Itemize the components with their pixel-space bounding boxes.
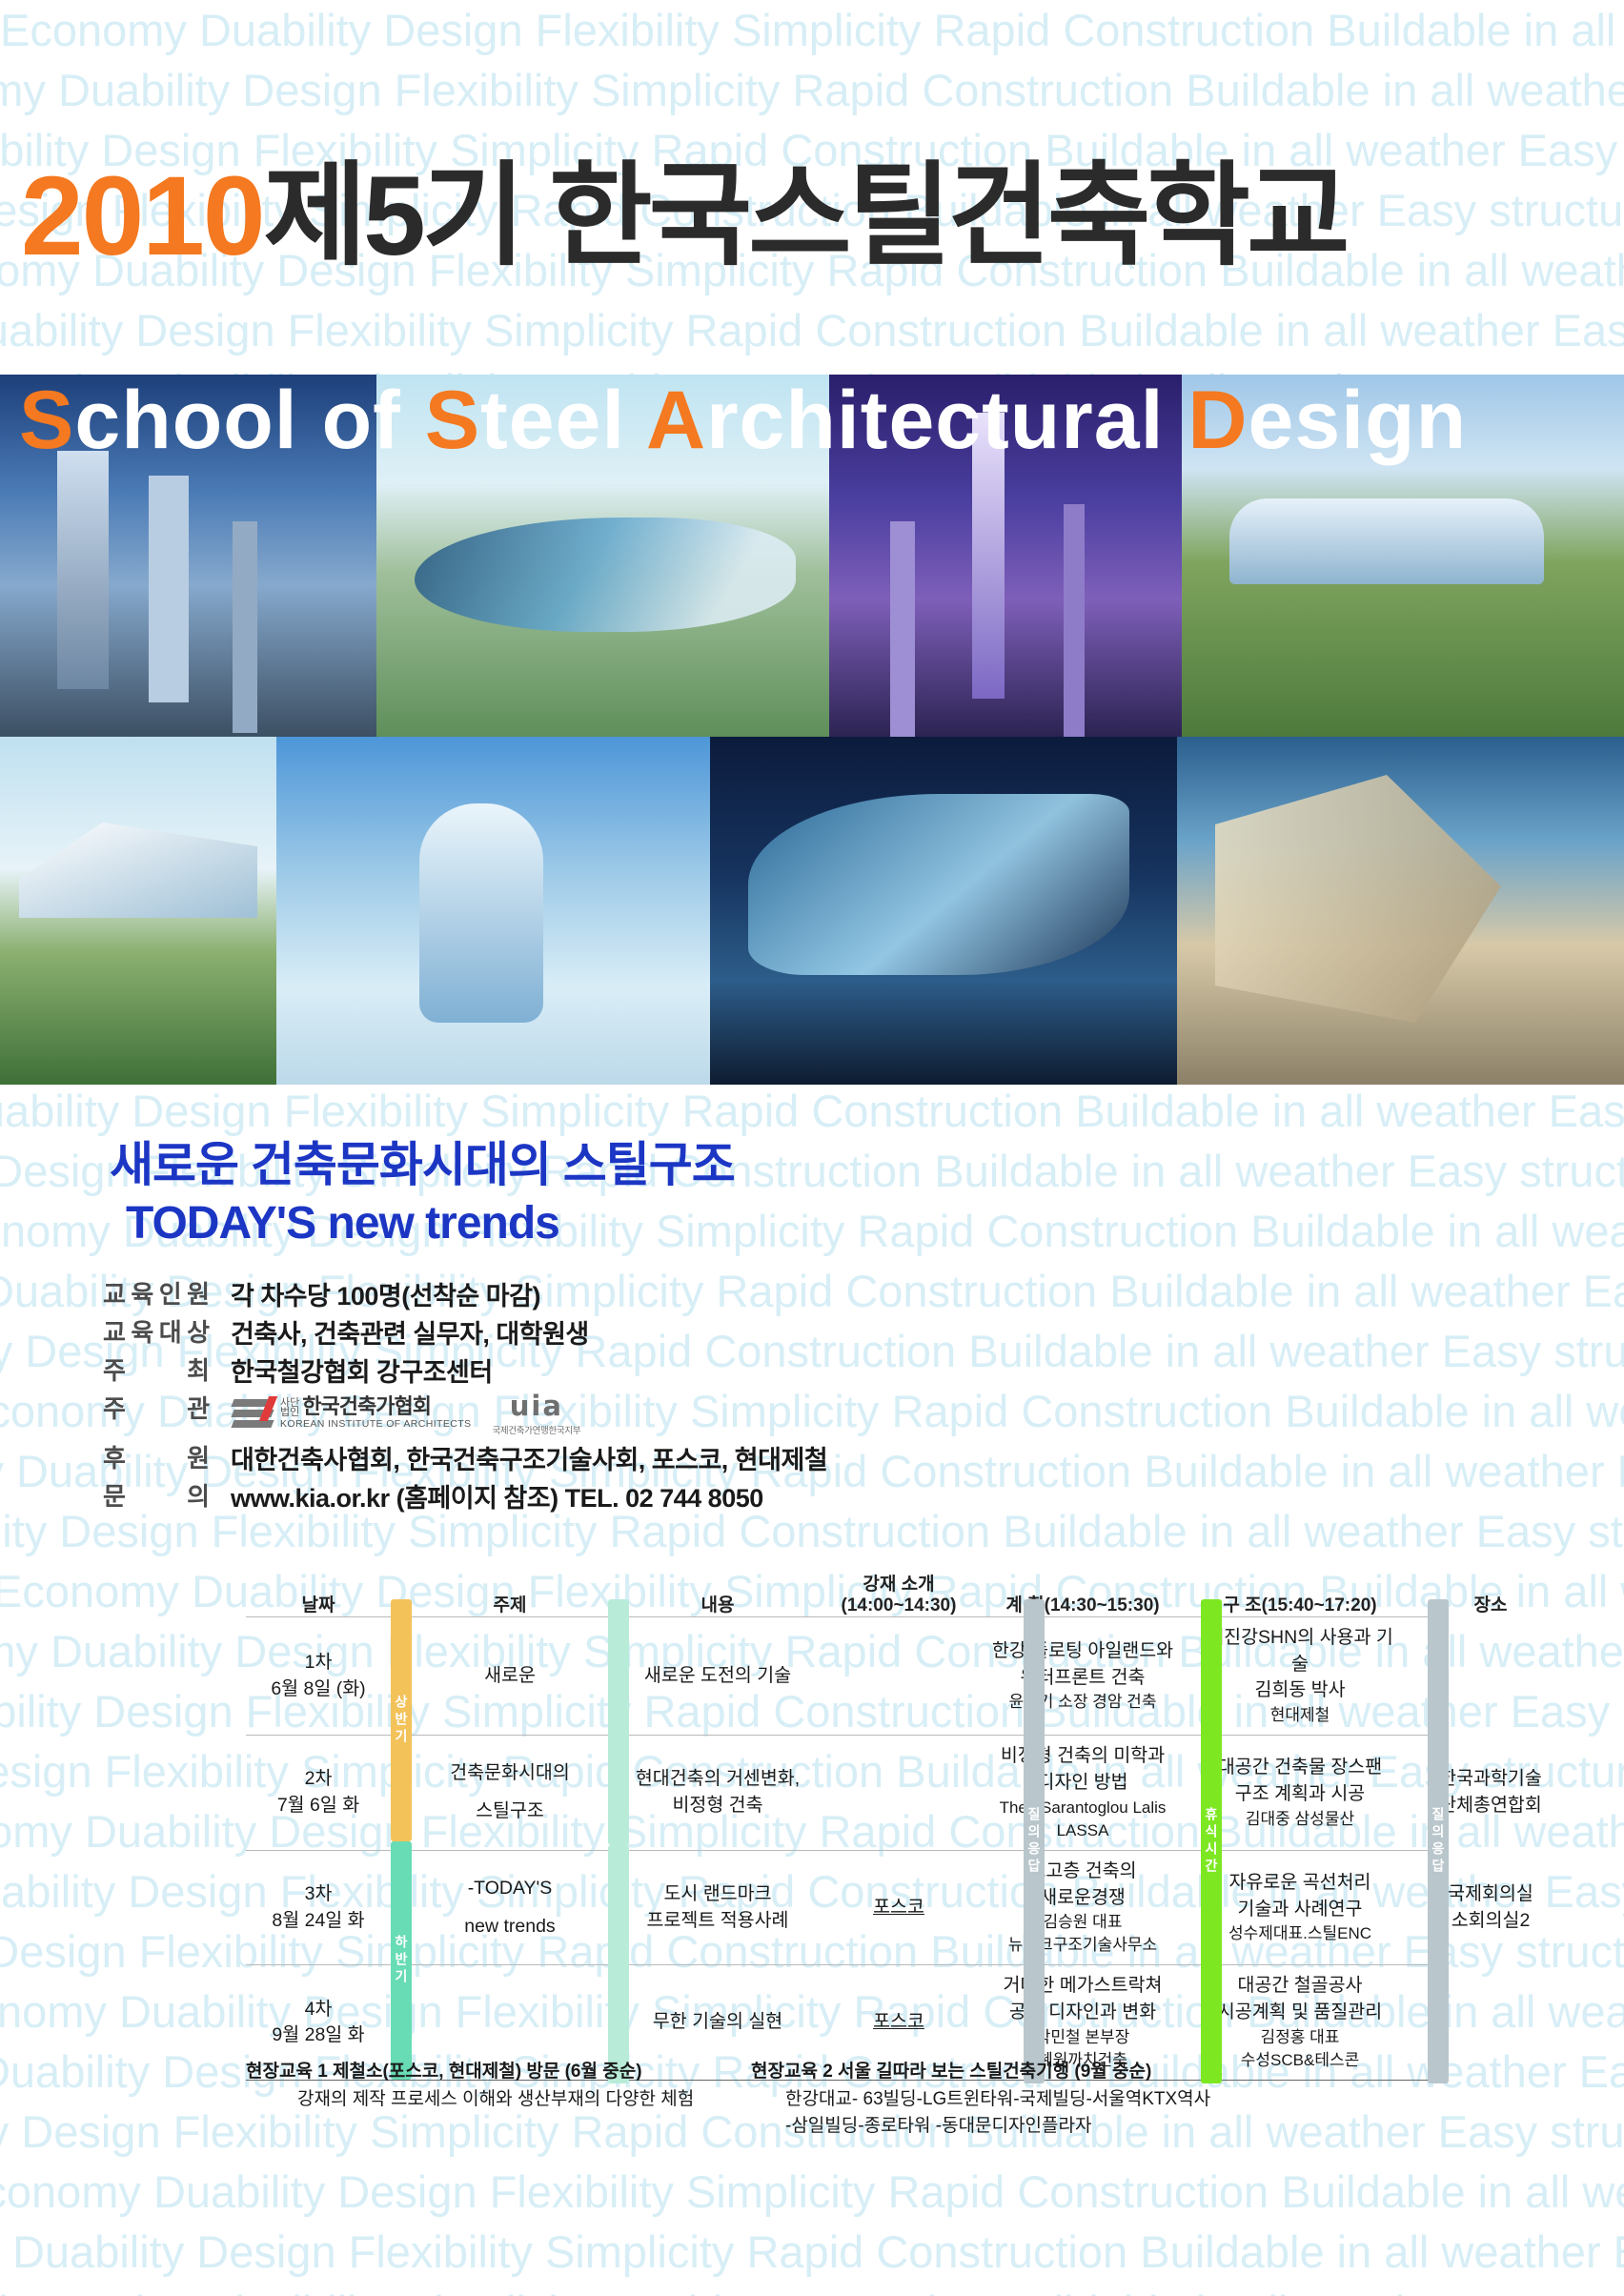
structure-line: 김정홍 대표 xyxy=(1261,2026,1340,2049)
cell-date: 3차8월 24일 화 xyxy=(246,1851,391,1965)
schedule-body: 상반기 하반기 질의응답 휴식시간 질의응답 1차6월 8일 (화)새로운새로운… xyxy=(246,1616,1435,2081)
theme-line: 스틸구조 xyxy=(476,1798,544,1825)
steel-line: 포스코 xyxy=(873,2009,924,2036)
session-date: 9월 28일 화 xyxy=(272,2022,364,2049)
content-line: 새로운 도전의 기술 xyxy=(644,1663,791,1690)
info-value-host: 한국철강협회 강구조센터 xyxy=(210,1351,493,1389)
photo-montage xyxy=(0,375,1624,1085)
schedule-header-row: 날짜 주제 내용 강재 소개(14:00~14:30) 계 획(14:30~15… xyxy=(246,1571,1435,1616)
structure-line: 내진강SHN의 사용과 기술 xyxy=(1199,1625,1401,1677)
info-label-char: 교 xyxy=(103,1275,126,1311)
footnotes: 현장교육 1 제철소(포스코, 현대제철) 방문 (6월 중순) 강재의 제작 … xyxy=(246,2059,1485,2141)
uia-logo: uia 국제건축가연맹한국지부 xyxy=(492,1390,580,1436)
info-value-audience: 건축사, 건축관련 실무자, 대학원생 xyxy=(210,1313,589,1351)
info-label-organizer: 주관 xyxy=(103,1390,210,1425)
plan-line: 박민철 본부장 xyxy=(1036,2026,1130,2049)
photo-atrium-interior xyxy=(1177,737,1624,1085)
info-label-char: 인 xyxy=(159,1275,182,1311)
session-number: 2차 xyxy=(305,1766,333,1793)
content-line: 현대건축의 거센변화, xyxy=(636,1766,800,1793)
cell-steel-intro xyxy=(827,1617,970,1735)
info-label-char: 주 xyxy=(103,1390,126,1425)
content-line: 비정형 건축 xyxy=(672,1793,762,1819)
info-label-host: 주최 xyxy=(103,1351,210,1387)
info-value-contact: www.kia.or.kr (홈페이지 참조) TEL. 02 744 8050 xyxy=(210,1477,763,1514)
steel-line: 포스코 xyxy=(873,1895,924,1921)
info-row-audience: 교육대상 건축사, 건축관련 실무자, 대학원생 xyxy=(103,1313,827,1351)
plan-line: 초고층 건축의 xyxy=(1028,1859,1136,1885)
info-label-char: 육 xyxy=(131,1275,153,1311)
cell-plan: 비정형 건축의 미학과디자인 방법Theo Sarantoglou Lalis … xyxy=(970,1736,1195,1850)
structure-line: 구조 계획과 시공 xyxy=(1235,1781,1365,1808)
footnote-2-line1: 한강대교- 63빌딩-LG트윈타워-국제빌딩-서울역KTX역사 xyxy=(751,2086,1485,2114)
cell-content: 현대건축의 거센변화,비정형 건축 xyxy=(608,1736,827,1850)
header-structure: 구 조(15:40~17:20) xyxy=(1195,1591,1405,1616)
structure-line: 대공간 건축물 장스팬 xyxy=(1218,1755,1382,1781)
place-line: 소회의실2 xyxy=(1451,1908,1531,1935)
info-label-char: 원 xyxy=(187,1275,210,1311)
content-line: 프로젝트 적용사례 xyxy=(647,1908,789,1935)
footnote-2-title: 현장교육 2 서울 길따라 보는 스틸건축기행 (9월 중순) xyxy=(751,2059,1485,2086)
info-row-sponsor: 후원 대한건축사협회, 한국건축구조기술사회, 포스코, 현대제철 xyxy=(103,1439,827,1477)
title-en-word: teel xyxy=(480,375,625,466)
cell-theme: 건축문화시대의스틸구조 xyxy=(412,1736,608,1850)
cell-plan: 초고층 건축의새로운경쟁김승원 대표뉴테크구조기술사무소 xyxy=(970,1851,1195,1965)
plan-line: 새로운경쟁 xyxy=(1040,1885,1126,1912)
kia-logo: 사단 법인 한국건축가협회 KOREAN INSTITUTE OF ARCHIT… xyxy=(231,1396,471,1431)
background-text-line: Economy Duability Design Flexibility Sim… xyxy=(0,2162,1624,2222)
cell-date: 1차6월 8일 (화) xyxy=(246,1617,391,1735)
structure-line: 자유로운 곡선처리 xyxy=(1229,1870,1371,1897)
info-label-char: 주 xyxy=(103,1351,126,1387)
place-line: 단체총연합회 xyxy=(1439,1793,1542,1819)
kia-name-english: KOREAN INSTITUTE OF ARCHITECTS xyxy=(280,1419,471,1430)
session-date: 8월 24일 화 xyxy=(272,1908,364,1935)
structure-line: 성수제대표.스틸ENC xyxy=(1228,1922,1371,1945)
structure-line: 김희동 박사 xyxy=(1254,1677,1345,1704)
cell-content: 도시 랜드마크프로젝트 적용사례 xyxy=(608,1851,827,1965)
footnote-field-training-2: 현장교육 2 서울 길따라 보는 스틸건축기행 (9월 중순) 한강대교- 63… xyxy=(751,2059,1485,2141)
info-value-capacity: 각 차수당 100명(선착순 마감) xyxy=(210,1275,540,1312)
uia-wordmark: uia xyxy=(492,1390,580,1422)
info-label-char: 문 xyxy=(103,1477,126,1513)
structure-line: 시공계획 및 품질관리 xyxy=(1218,2000,1382,2026)
structure-line: 현대제철 xyxy=(1270,1704,1330,1727)
bar-qa-1: 질의응답 xyxy=(1024,1599,1045,2083)
kia-logo-text: 사단 법인 한국건축가협회 KOREAN INSTITUTE OF ARCHIT… xyxy=(280,1396,471,1430)
info-label-char: 의 xyxy=(187,1477,210,1513)
photo-curved-pavilion xyxy=(710,737,1177,1085)
cell-date: 2차7월 6일 화 xyxy=(246,1736,391,1850)
bar-theme-top xyxy=(608,1599,629,1845)
structure-line: 대공간 철골공사 xyxy=(1238,1973,1363,2000)
kia-emblem-icon xyxy=(231,1396,274,1431)
kia-prefix: 사단 법인 한국건축가협회 xyxy=(280,1396,471,1417)
table-row: 2차7월 6일 화건축문화시대의스틸구조현대건축의 거센변화,비정형 건축비정형… xyxy=(246,1735,1435,1850)
cell-theme: 새로운 xyxy=(412,1617,608,1735)
cell-plan: 한강 플로팅 아일랜드와워터프론트 건축윤창기 소장 경암 건축 xyxy=(970,1617,1195,1735)
theme-line: 새로운 xyxy=(484,1663,536,1690)
footnote-2-line2: -삼일빌딩-종로타워 -동대문디자인플라자 xyxy=(751,2113,1485,2141)
session-number: 1차 xyxy=(305,1650,333,1676)
footnote-1-detail: 강재의 제작 프로세스 이해와 생산부재의 다양한 체험 xyxy=(246,2086,751,2114)
info-label-char: 관 xyxy=(187,1390,210,1425)
info-row-contact: 문의 www.kia.or.kr (홈페이지 참조) TEL. 02 744 8… xyxy=(103,1477,827,1515)
info-label-char: 육 xyxy=(131,1313,153,1349)
info-row-organizer: 주관 사단 법인 한국건축가협회 KOREAN xyxy=(103,1390,827,1439)
uia-subtitle: 국제건축가연맹한국지부 xyxy=(492,1423,580,1436)
plan-line: 디자인 방법 xyxy=(1037,1770,1127,1797)
info-label-audience: 교육대상 xyxy=(103,1313,210,1349)
header-plan: 계 획(14:30~15:30) xyxy=(970,1591,1195,1616)
title-en-capital: D xyxy=(1188,375,1248,466)
footnote-field-training-1: 현장교육 1 제철소(포스코, 현대제철) 방문 (6월 중순) 강재의 제작 … xyxy=(246,2059,751,2141)
title-en-word: esign xyxy=(1248,375,1467,466)
cell-steel-intro xyxy=(827,1736,970,1850)
cell-content: 새로운 도전의 기술 xyxy=(608,1617,827,1735)
slogan-korean: 새로운 건축문화시대의 스틸구조 xyxy=(110,1127,735,1195)
header-content: 내용 xyxy=(608,1591,827,1616)
photo-row-bottom xyxy=(0,737,1624,1085)
info-label-char: 대 xyxy=(159,1313,182,1349)
header-theme: 주제 xyxy=(412,1591,608,1616)
info-label-char: 원 xyxy=(187,1439,210,1474)
place-line: 한국과학기술 xyxy=(1439,1766,1542,1793)
title-year: 2010 xyxy=(21,153,264,279)
cell-structure: 대공간 건축물 장스팬구조 계획과 시공김대중 삼성물산 xyxy=(1195,1736,1405,1850)
info-label-capacity: 교육인원 xyxy=(103,1275,210,1311)
kia-name-korean: 한국건축가협회 xyxy=(302,1396,431,1417)
background-text-line: Economy Duability Design Flexibility Sim… xyxy=(0,2222,1624,2282)
title-en-word: chool xyxy=(74,375,297,466)
info-label-contact: 문의 xyxy=(103,1477,210,1513)
title-korean: 제5기 한국스틸건축학교 xyxy=(264,153,1347,279)
title-en-capital: S xyxy=(19,375,74,466)
title-en-capital: S xyxy=(425,375,480,466)
structure-line: 기술과 사례연구 xyxy=(1238,1897,1363,1923)
info-label-sponsor: 후원 xyxy=(103,1439,210,1474)
header-date: 날짜 xyxy=(246,1591,391,1616)
page-title: 2010제5기 한국스틸건축학교 xyxy=(21,160,1347,273)
info-label-char: 상 xyxy=(187,1313,210,1349)
content-line: 도시 랜드마크 xyxy=(663,1881,771,1908)
title-en-word: rchitectural xyxy=(706,375,1164,466)
place-line: 국제회의실 xyxy=(1448,1881,1533,1908)
photo-station-canopy xyxy=(0,737,276,1085)
title-en-capital: A xyxy=(646,375,706,466)
structure-line: 김대중 삼성물산 xyxy=(1246,1808,1354,1831)
plan-line: 김승원 대표 xyxy=(1044,1911,1123,1934)
title-english: School of Steel Architectural Design xyxy=(19,379,1467,461)
theme-line: new trends xyxy=(464,1914,555,1940)
footnote-1-title: 현장교육 1 제철소(포스코, 현대제철) 방문 (6월 중순) xyxy=(246,2059,751,2086)
info-table: 교육인원 각 차수당 100명(선착순 마감) 교육대상 건축사, 건축관련 실… xyxy=(103,1275,827,1515)
info-label-char: 후 xyxy=(103,1439,126,1474)
plan-line: 한강 플로팅 아일랜드와 xyxy=(992,1638,1173,1665)
cell-steel-intro: 포스코 xyxy=(827,1851,970,1965)
header-steel: 강재 소개(14:00~14:30) xyxy=(827,1570,970,1616)
kia-prefix-line2: 법인 xyxy=(280,1408,299,1417)
session-number: 3차 xyxy=(305,1881,333,1908)
schedule-table: 날짜 주제 내용 강재 소개(14:00~14:30) 계 획(14:30~15… xyxy=(246,1571,1435,2081)
info-value-sponsor: 대한건축사협회, 한국건축구조기술사회, 포스코, 현대제철 xyxy=(210,1439,827,1476)
table-row: 3차8월 24일 화-TODAY'Snew trends도시 랜드마크프로젝트 … xyxy=(246,1850,1435,1965)
slogan-english: TODAY'S new trends xyxy=(126,1197,559,1250)
cell-structure: 자유로운 곡선처리기술과 사례연구성수제대표.스틸ENC xyxy=(1195,1851,1405,1965)
cell-structure: 내진강SHN의 사용과 기술김희동 박사현대제철 xyxy=(1195,1617,1405,1735)
info-row-capacity: 교육인원 각 차수당 100명(선착순 마감) xyxy=(103,1275,827,1313)
session-number: 4차 xyxy=(305,1997,333,2023)
info-label-char: 최 xyxy=(187,1351,210,1387)
info-label-char: 교 xyxy=(103,1313,126,1349)
bar-second-half: 하반기 xyxy=(391,1841,412,2080)
info-row-host: 주최 한국철강협회 강구조센터 xyxy=(103,1351,827,1390)
bar-rest: 휴식시간 xyxy=(1201,1599,1222,2083)
session-date: 7월 6일 화 xyxy=(277,1793,359,1819)
bar-qa-2: 질의응답 xyxy=(1428,1599,1449,2083)
poster-header: 2010제5기 한국스틸건축학교 xyxy=(0,0,1624,376)
bar-first-half: 상반기 xyxy=(391,1599,412,1841)
title-en-word: of xyxy=(322,375,401,466)
session-date: 6월 8일 (화) xyxy=(271,1676,365,1703)
plan-line: Theo Sarantoglou Lalis LASSA xyxy=(974,1797,1191,1842)
photo-observation-tower xyxy=(276,737,710,1085)
theme-line: 건축문화시대의 xyxy=(450,1760,570,1787)
bar-theme-bottom xyxy=(608,1845,629,2083)
cell-theme: -TODAY'Snew trends xyxy=(412,1851,608,1965)
background-text-line: Economy Duability Design Flexibility Sim… xyxy=(0,2282,1624,2296)
organizer-logos: 사단 법인 한국건축가협회 KOREAN INSTITUTE OF ARCHIT… xyxy=(210,1390,580,1436)
content-line: 무한 기술의 실현 xyxy=(653,2009,782,2036)
table-row: 1차6월 8일 (화)새로운새로운 도전의 기술한강 플로팅 아일랜드와워터프론… xyxy=(246,1616,1435,1735)
theme-line: -TODAY'S xyxy=(468,1876,553,1902)
